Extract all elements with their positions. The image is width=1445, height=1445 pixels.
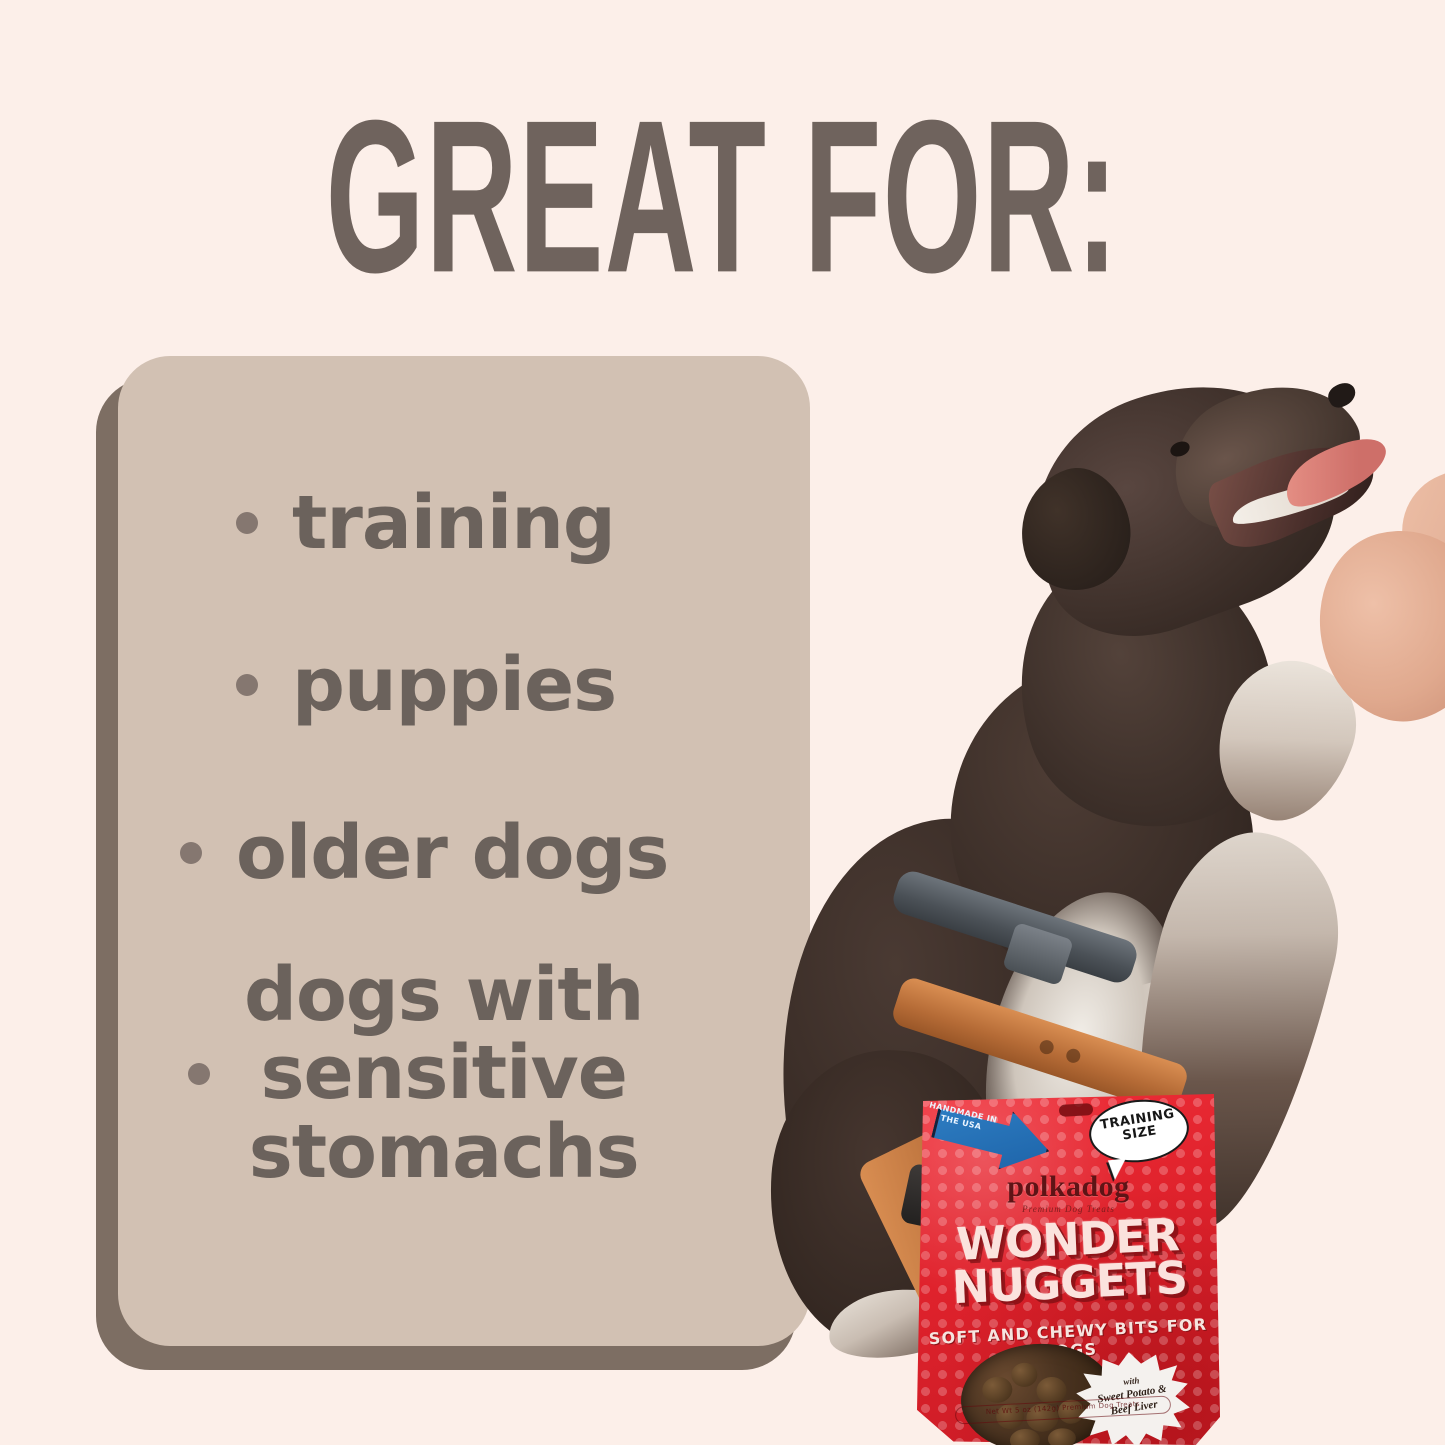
- training-size-label: TRAINING SIZE: [1089, 1106, 1188, 1148]
- package-hang-hole: [1059, 1103, 1094, 1117]
- list-item-label: puppies: [292, 646, 616, 724]
- harness-hole-icon: [1038, 1038, 1056, 1056]
- bullet-dot-icon: [236, 512, 258, 534]
- product-package[interactable]: HANDMADE IN THE USA TRAINING SIZE polkad…: [917, 1094, 1220, 1445]
- list-item: older dogs: [180, 814, 668, 892]
- list-item: dogs with sensitive stomachs: [188, 956, 643, 1191]
- list-item: training: [236, 484, 615, 562]
- page-title: GREAT FOR:: [275, 88, 1171, 305]
- list-item-label: dogs with sensitive stomachs: [244, 956, 643, 1191]
- bullet-dot-icon: [188, 1063, 210, 1085]
- product-name: WONDER NUGGETS: [915, 1211, 1221, 1311]
- bullet-dot-icon: [236, 674, 258, 696]
- brand-logo: polkadog: [917, 1170, 1220, 1204]
- poster-canvas: GREAT FOR: training puppies older dogs d…: [0, 0, 1445, 1445]
- list-item-label: training: [292, 484, 615, 562]
- benefits-list: training puppies older dogs dogs with se…: [118, 356, 810, 1346]
- list-item: puppies: [236, 646, 616, 724]
- bullet-dot-icon: [180, 842, 202, 864]
- list-item-label: older dogs: [236, 814, 668, 892]
- harness-hole-icon: [1064, 1047, 1082, 1065]
